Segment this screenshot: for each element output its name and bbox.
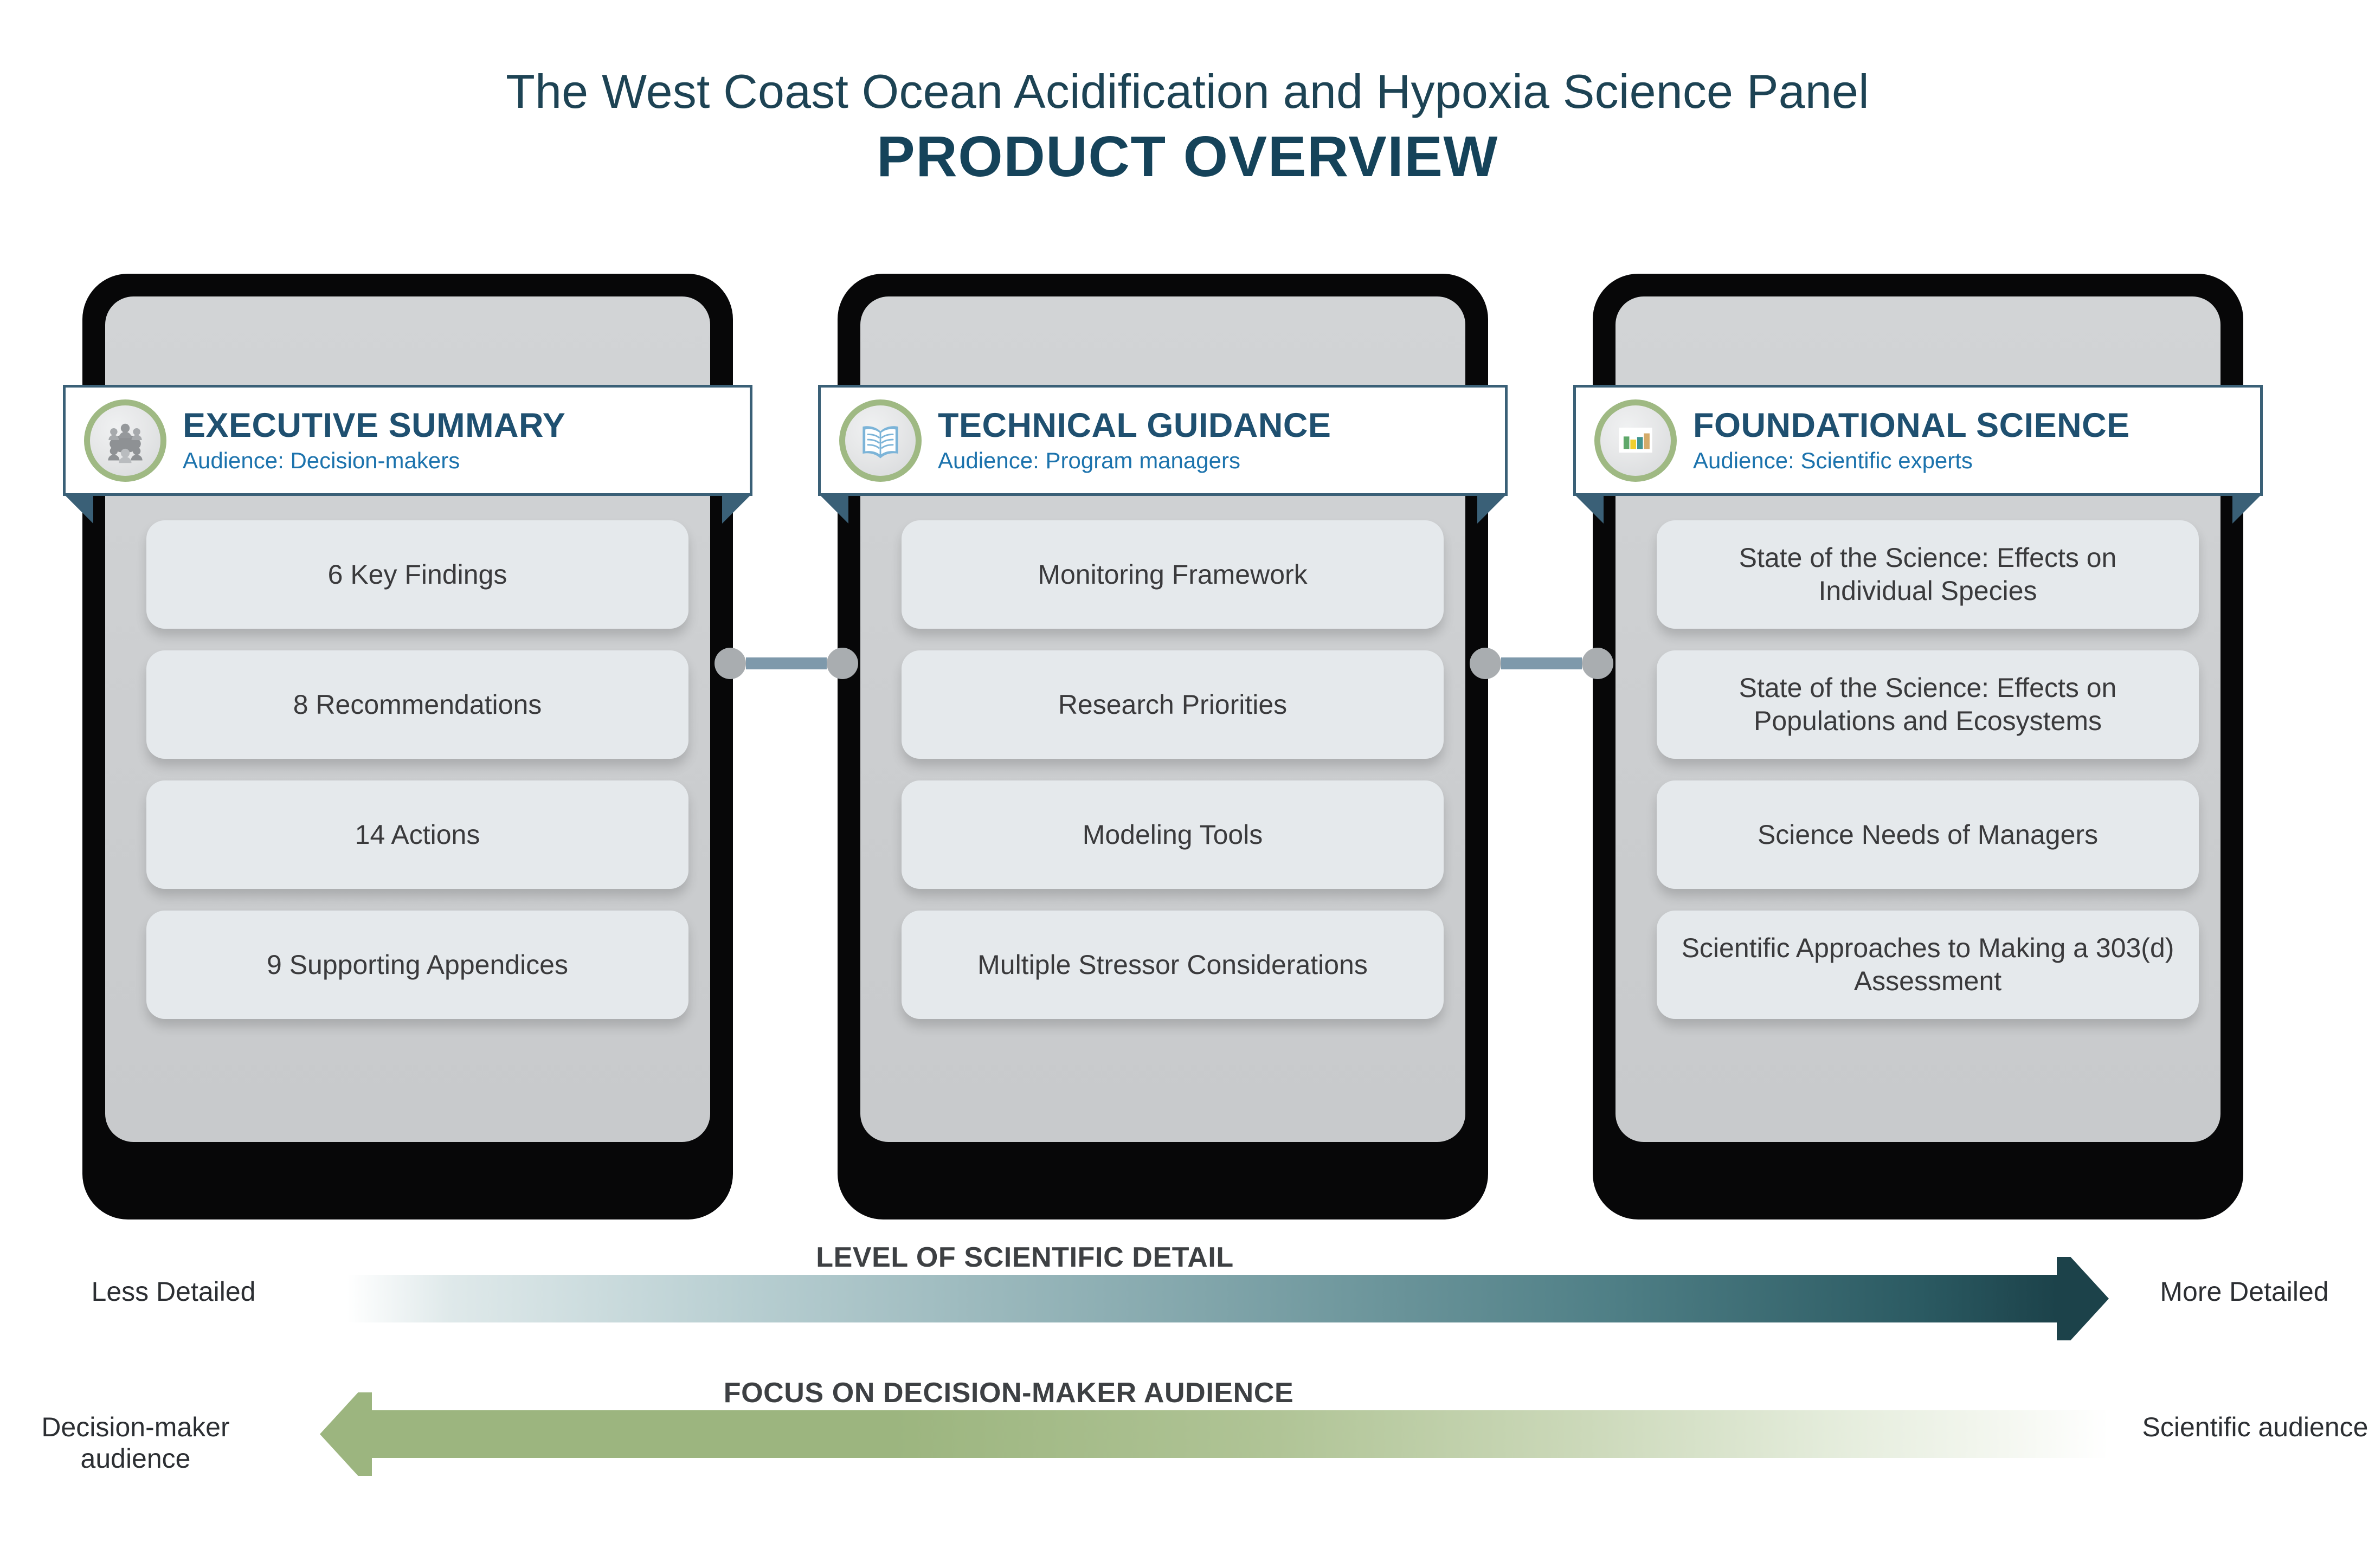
card-header-text: EXECUTIVE SUMMARY Audience: Decision-mak…: [183, 409, 565, 472]
list-item[interactable]: Research Priorities: [902, 650, 1444, 759]
arrow-shaft: [371, 1410, 2109, 1458]
card-header-text: TECHNICAL GUIDANCE Audience: Program man…: [938, 409, 1331, 472]
open-book-icon: [839, 399, 922, 482]
arrow-left-icon: [320, 1410, 2109, 1458]
card-header-banner: EXECUTIVE SUMMARY Audience: Decision-mak…: [63, 385, 752, 496]
card-item-list: Monitoring Framework Research Priorities…: [902, 520, 1444, 1019]
infographic-page: The West Coast Ocean Acidification and H…: [0, 0, 2375, 1568]
list-item[interactable]: Modeling Tools: [902, 780, 1444, 889]
people-around-table-icon: [84, 399, 166, 482]
connector-bar: [1501, 657, 1582, 669]
product-card-executive-summary[interactable]: EXECUTIVE SUMMARY Audience: Decision-mak…: [82, 274, 733, 1219]
card-audience: Audience: Decision-makers: [183, 449, 565, 472]
card-title: FOUNDATIONAL SCIENCE: [1693, 409, 2130, 443]
list-item[interactable]: 6 Key Findings: [146, 520, 688, 629]
card-header-text: FOUNDATIONAL SCIENCE Audience: Scientifi…: [1693, 409, 2130, 472]
list-item[interactable]: State of the Science: Effects on Populat…: [1657, 650, 2199, 759]
title-subtitle-line: The West Coast Ocean Acidification and H…: [0, 65, 2375, 119]
axis-caption: LEVEL OF SCIENTIFIC DETAIL: [0, 1241, 2212, 1274]
list-item[interactable]: Monitoring Framework: [902, 520, 1444, 629]
page-title: The West Coast Ocean Acidification and H…: [0, 65, 2375, 191]
connector-dot-left: [715, 648, 746, 679]
card-item-list: State of the Science: Effects on Individ…: [1657, 520, 2199, 1019]
connector-dot-right: [1582, 648, 1613, 679]
list-item[interactable]: 9 Supporting Appendices: [146, 911, 688, 1019]
axis-left-label: Decision-maker audience: [11, 1411, 260, 1474]
axis-caption: FOCUS ON DECISION-MAKER AUDIENCE: [0, 1377, 2196, 1409]
product-cards-row: EXECUTIVE SUMMARY Audience: Decision-mak…: [0, 274, 2375, 1228]
card-item-list: 6 Key Findings 8 Recommendations 14 Acti…: [146, 520, 688, 1019]
connector-bar: [746, 657, 827, 669]
title-main-line: PRODUCT OVERVIEW: [0, 123, 2375, 191]
axis-legend-block: LEVEL OF SCIENTIFIC DETAIL Less Detailed…: [0, 1241, 2375, 1528]
list-item[interactable]: Scientific Approaches to Making a 303(d)…: [1657, 911, 2199, 1019]
card-title: TECHNICAL GUIDANCE: [938, 409, 1331, 443]
list-item[interactable]: 8 Recommendations: [146, 650, 688, 759]
list-item[interactable]: Multiple Stressor Considerations: [902, 911, 1444, 1019]
card-title: EXECUTIVE SUMMARY: [183, 409, 565, 443]
bar-chart-icon: [1594, 399, 1677, 482]
product-card-foundational-science[interactable]: FOUNDATIONAL SCIENCE Audience: Scientifi…: [1593, 274, 2243, 1219]
arrow-shaft: [347, 1275, 2057, 1322]
list-item[interactable]: 14 Actions: [146, 780, 688, 889]
card-audience: Audience: Program managers: [938, 449, 1331, 472]
list-item[interactable]: State of the Science: Effects on Individ…: [1657, 520, 2199, 629]
list-item[interactable]: Science Needs of Managers: [1657, 780, 2199, 889]
axis-scientific-detail: LEVEL OF SCIENTIFIC DETAIL Less Detailed…: [0, 1241, 2375, 1355]
axis-right-label: Scientific audience: [2131, 1411, 2375, 1443]
axis-decision-maker-focus: FOCUS ON DECISION-MAKER AUDIENCE Decisio…: [0, 1377, 2375, 1490]
connector-dot-right: [827, 648, 858, 679]
axis-left-label: Less Detailed: [49, 1276, 298, 1307]
card-header-banner: FOUNDATIONAL SCIENCE Audience: Scientifi…: [1573, 385, 2263, 496]
card-audience: Audience: Scientific experts: [1693, 449, 2130, 472]
connector-card1-card2: [715, 654, 858, 673]
arrow-right-icon: [347, 1275, 2109, 1322]
card-header-banner: TECHNICAL GUIDANCE Audience: Program man…: [818, 385, 1508, 496]
axis-right-label: More Detailed: [2120, 1276, 2369, 1307]
product-card-technical-guidance[interactable]: TECHNICAL GUIDANCE Audience: Program man…: [838, 274, 1488, 1219]
connector-dot-left: [1470, 648, 1501, 679]
connector-card2-card3: [1470, 654, 1613, 673]
